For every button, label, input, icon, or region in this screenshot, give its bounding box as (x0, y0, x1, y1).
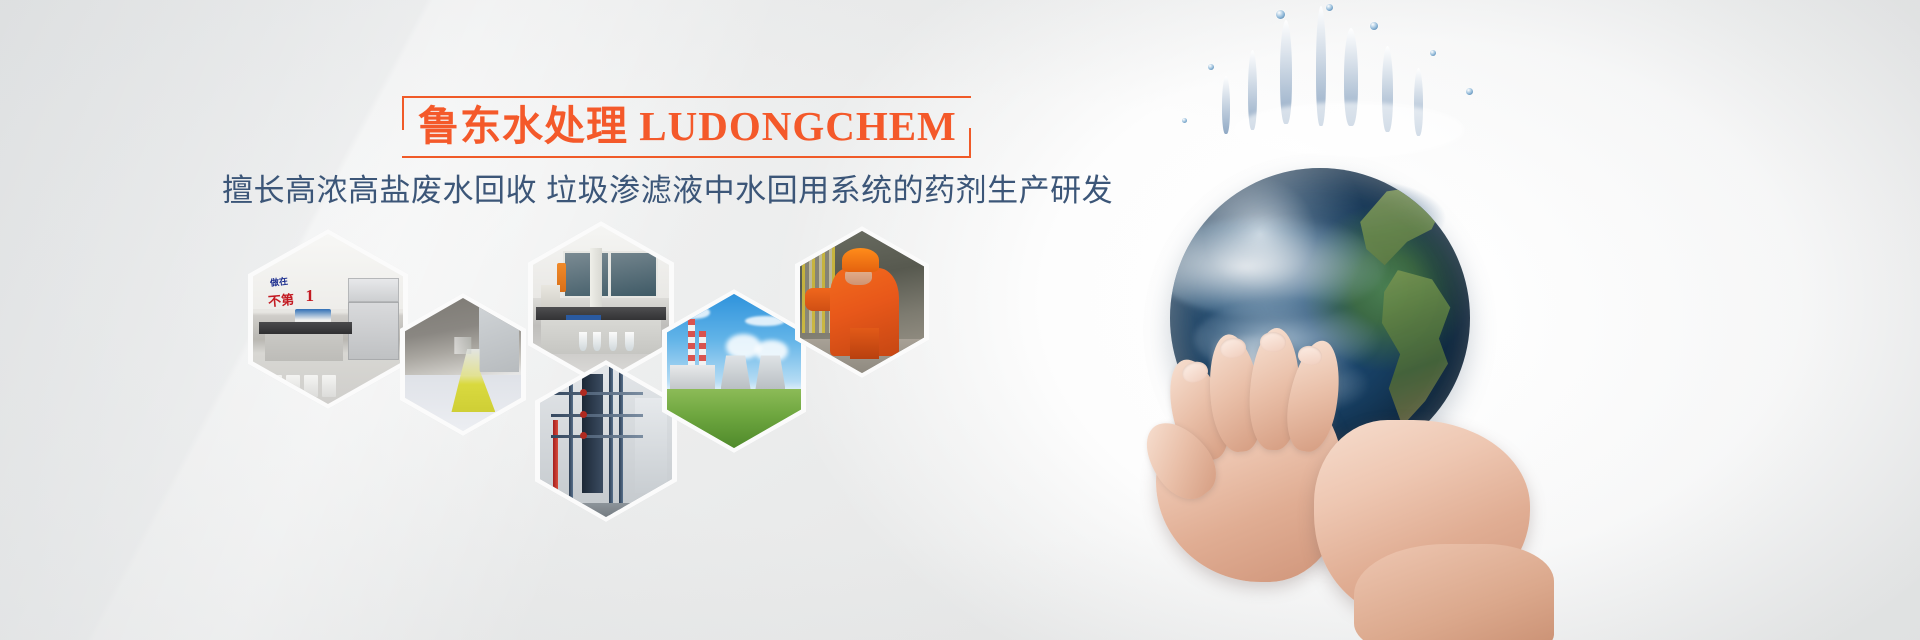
fingernail (1260, 332, 1287, 353)
orange-hard-hat (842, 248, 879, 272)
slogan-top-text: 做在 (270, 274, 289, 289)
glassware-item (625, 332, 633, 351)
cupped-hands (1138, 300, 1568, 640)
hexagon-reagent-flask[interactable] (400, 293, 526, 436)
wrist (1354, 544, 1554, 640)
water-treatment-hero-banner: 鲁东水处理 LUDONGCHEM 擅长高浓高盐废水回收 垃圾渗滤液中水回用系统的… (0, 0, 1920, 640)
water-droplet (1466, 88, 1473, 95)
hexagon-worker-inspecting-valves[interactable] (795, 226, 929, 378)
worker-legs (850, 328, 880, 359)
horizontal-pipe (551, 414, 643, 417)
vertical-pipe (609, 365, 613, 517)
plant-building (670, 365, 716, 390)
glassware-item (609, 332, 617, 351)
slogan-number: 1 (306, 286, 315, 306)
water-droplet (1276, 10, 1285, 19)
horizontal-pipe (551, 392, 643, 395)
hexagon-power-plant[interactable] (662, 289, 806, 453)
hands-holding-water-globe (1020, 0, 1660, 640)
hexagon-photo-cluster: 做在 不第 1 (0, 0, 1000, 640)
bench-cabinets (541, 320, 661, 354)
lab-jug (322, 375, 336, 397)
water-droplet (1326, 4, 1333, 11)
glassware-item (579, 332, 587, 351)
lab-oven (541, 285, 560, 307)
water-droplet (1208, 64, 1214, 70)
green-field (667, 389, 801, 448)
slogan-mid-text: 不第 (267, 289, 295, 310)
lab-bench-base (265, 334, 343, 361)
water-droplet (1182, 118, 1187, 123)
flask-neck (454, 337, 471, 354)
treatment-tank (635, 398, 667, 492)
window-mullion (608, 251, 611, 298)
hexagon-laboratory-workshop[interactable]: 做在 不第 1 (248, 229, 408, 409)
lab-equipment-cabinet (348, 302, 399, 360)
glassware-item (593, 332, 601, 351)
lab-upper-cabinet (348, 278, 399, 302)
splash-mist (1234, 102, 1464, 158)
vertical-pipe (569, 365, 573, 517)
hexagon-laboratory-glassware[interactable] (528, 221, 674, 387)
valve-handle (580, 432, 587, 439)
water-jet (1222, 76, 1230, 134)
water-droplet (1370, 22, 1378, 30)
glassware-rack (590, 248, 602, 310)
vertical-pipe (619, 365, 623, 517)
horizontal-pipe (551, 435, 643, 438)
hexagon-industrial-piping[interactable] (535, 360, 677, 522)
valve-handle (580, 411, 587, 418)
plant-floor (540, 503, 672, 517)
lab-bench-top (259, 322, 352, 334)
bench-top (536, 307, 667, 319)
valve-handle (580, 389, 587, 396)
wall-slogan: 做在 不第 1 (267, 275, 330, 309)
water-droplet (1430, 50, 1436, 56)
